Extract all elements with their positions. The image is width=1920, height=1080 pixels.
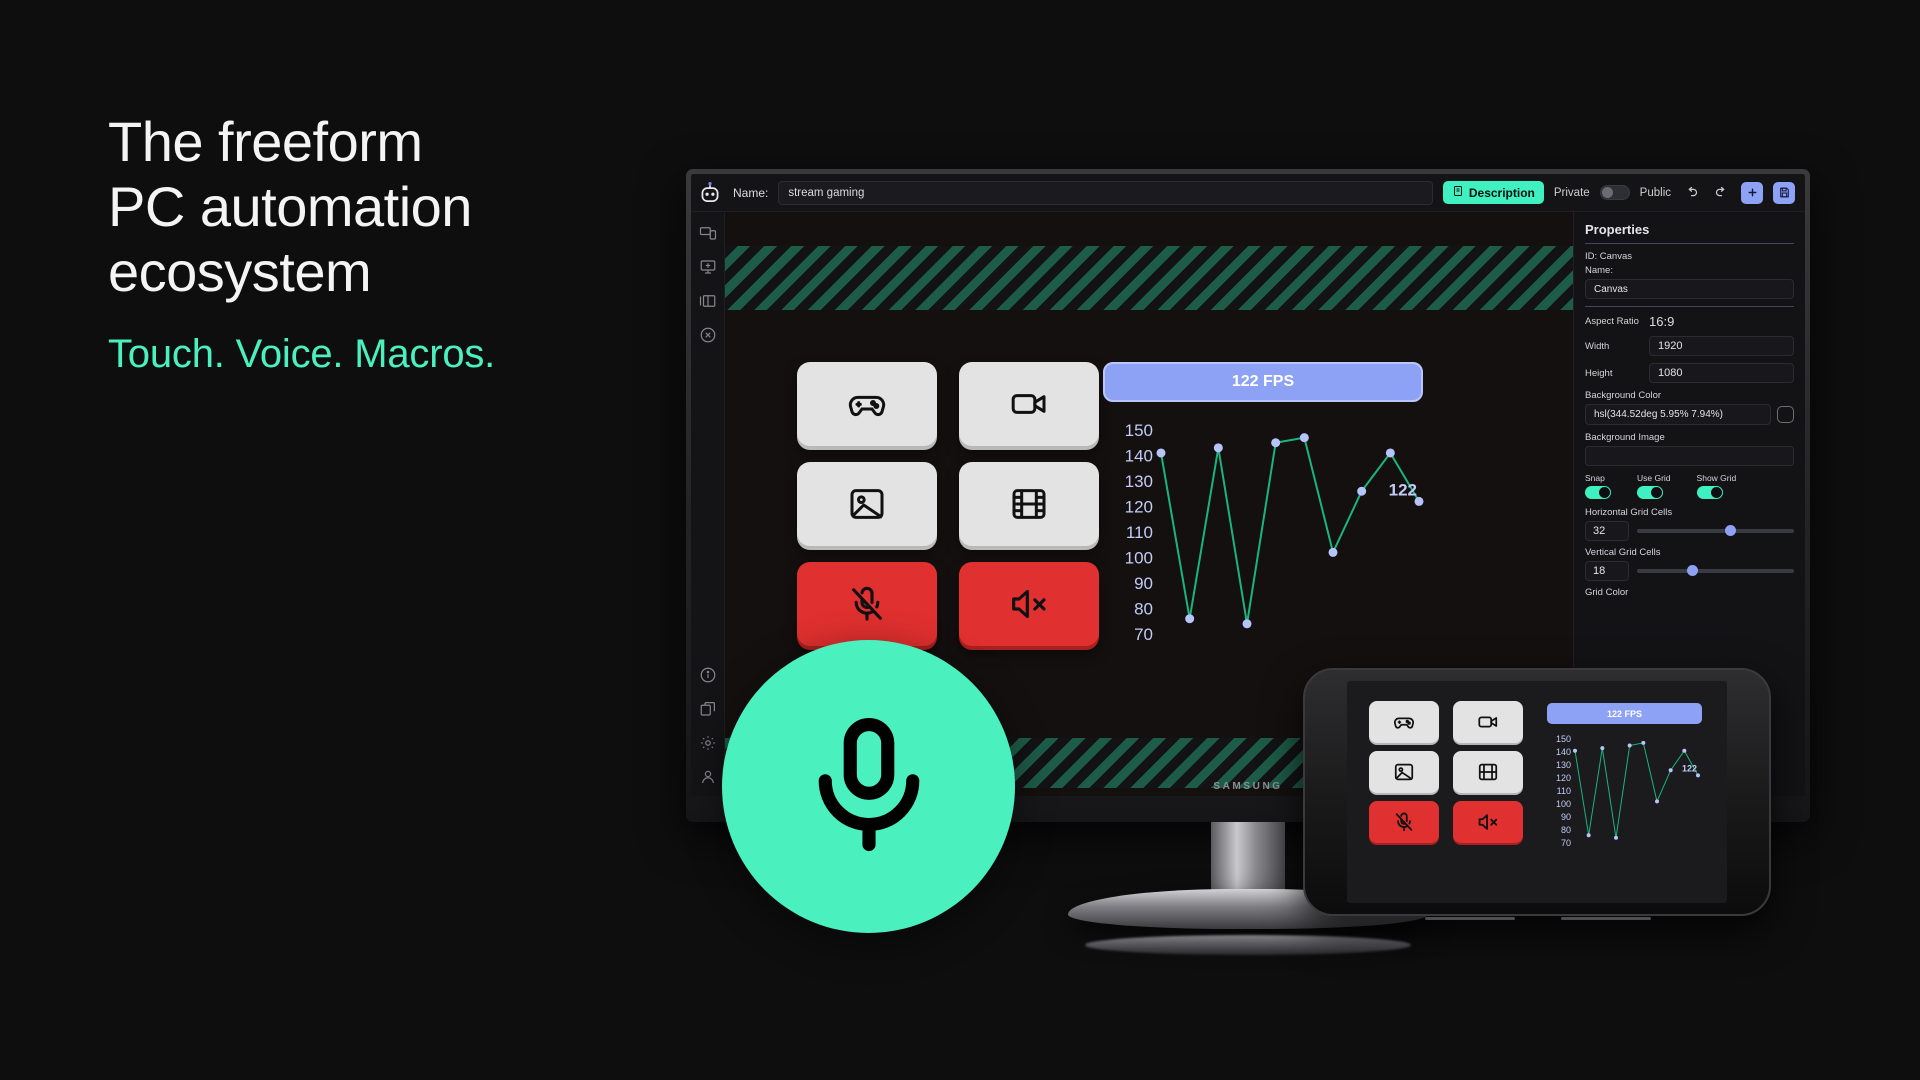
vertical-grid-input[interactable]: 18 (1585, 561, 1629, 581)
chart-point (1682, 749, 1686, 753)
snap-toggle-group: Snap (1585, 473, 1611, 499)
left-rail (691, 212, 725, 796)
y-axis-tick: 90 (1134, 574, 1153, 593)
background-color-swatch[interactable] (1777, 406, 1794, 423)
y-axis-tick: 120 (1125, 498, 1153, 517)
chart-point (1157, 448, 1166, 457)
y-axis-tick: 140 (1125, 447, 1153, 466)
chart-point (1614, 836, 1618, 840)
tv-stand-shadow (1085, 935, 1411, 955)
film-tile[interactable] (959, 462, 1099, 546)
width-row: Width 1920 (1585, 336, 1794, 356)
robot-icon (697, 180, 723, 206)
name-input-value: stream gaming (788, 187, 864, 199)
grid-toggles: Snap Use Grid Show Grid (1585, 473, 1794, 499)
use-grid-toggle[interactable] (1637, 486, 1663, 499)
layers-icon[interactable] (699, 700, 717, 718)
chart-point (1669, 768, 1673, 772)
phone-mic-mute-tile[interactable] (1369, 801, 1439, 843)
chart-point (1214, 443, 1223, 452)
chart-point (1386, 448, 1395, 457)
phone-speaker-bar-right (1561, 917, 1651, 920)
page-subtitle: Touch. Voice. Macros. (108, 332, 495, 377)
info-icon[interactable] (699, 666, 717, 684)
aspect-ratio-value: 16:9 (1649, 314, 1674, 329)
page-title: The freeform PC automation ecosystem (108, 110, 472, 305)
phone-tile-grid (1369, 701, 1523, 843)
add-button[interactable] (1741, 182, 1763, 204)
canvas-name-input[interactable]: Canvas (1585, 279, 1794, 299)
gamepad-tile[interactable] (797, 362, 937, 446)
y-axis-tick: 70 (1561, 838, 1571, 848)
stripe-band-top (725, 246, 1573, 310)
chart-line (1575, 743, 1698, 838)
canvas-name-label: Name: (1585, 265, 1794, 276)
background-color-input[interactable]: hsl(344.52deg 5.95% 7.94%) (1585, 404, 1771, 425)
close-circle-icon[interactable] (699, 326, 717, 344)
background-image-input[interactable] (1585, 446, 1794, 466)
divider-2 (1585, 306, 1794, 307)
visibility-toggle[interactable] (1600, 185, 1630, 200)
phone-body: 122 FPS 150140130120110100908070122 (1303, 668, 1771, 916)
chart-point (1271, 438, 1280, 447)
horizontal-grid-row: 32 (1585, 521, 1794, 541)
chart-annotation: 122 (1682, 763, 1697, 773)
y-axis-tick: 110 (1126, 523, 1153, 542)
y-axis-tick: 120 (1556, 773, 1571, 783)
y-axis-tick: 100 (1125, 549, 1153, 568)
tile-grid (797, 362, 1099, 646)
description-button[interactable]: Description (1443, 181, 1544, 204)
chart-point (1641, 741, 1645, 745)
phone-speaker-bar-left (1425, 917, 1515, 920)
y-axis-tick: 80 (1561, 825, 1571, 835)
name-input[interactable]: stream gaming (778, 181, 1433, 205)
vertical-grid-label: Vertical Grid Cells (1585, 547, 1794, 558)
monitor-add-icon[interactable] (699, 258, 717, 276)
y-axis-tick: 130 (1556, 760, 1571, 770)
page-root: The freeform PC automation ecosystem Tou… (0, 0, 1920, 1080)
phone-mockup: 122 FPS 150140130120110100908070122 (1303, 668, 1771, 916)
description-label: Description (1469, 186, 1535, 200)
redo-icon[interactable] (1711, 183, 1731, 203)
chart-point (1696, 773, 1700, 777)
chart-point (1600, 746, 1604, 750)
grid-color-label: Grid Color (1585, 587, 1794, 598)
phone-screen: 122 FPS 150140130120110100908070122 (1347, 681, 1727, 903)
y-axis-tick: 150 (1556, 734, 1571, 744)
phone-gamepad-tile[interactable] (1369, 701, 1439, 743)
y-axis-tick: 90 (1561, 812, 1571, 822)
save-button[interactable] (1773, 182, 1795, 204)
y-axis-tick: 110 (1557, 786, 1571, 796)
chart-annotation: 122 (1389, 480, 1417, 499)
chart-point (1300, 433, 1309, 442)
y-axis-tick: 130 (1125, 472, 1153, 491)
panel-icon[interactable] (699, 292, 717, 310)
height-input[interactable]: 1080 (1649, 363, 1794, 383)
devices-icon[interactable] (699, 224, 717, 242)
height-label: Height (1585, 368, 1641, 379)
undo-icon[interactable] (1681, 183, 1701, 203)
background-color-label: Background Color (1585, 390, 1794, 401)
y-axis-tick: 100 (1556, 799, 1571, 809)
y-axis-tick: 70 (1134, 625, 1153, 644)
chart-line (1161, 438, 1419, 624)
phone-fps-chart: 150140130120110100908070122 (1543, 733, 1708, 853)
horizontal-grid-slider[interactable] (1637, 529, 1794, 533)
phone-fps-badge[interactable]: 122 FPS (1547, 703, 1702, 724)
vertical-grid-row: 18 (1585, 561, 1794, 581)
background-color-row: hsl(344.52deg 5.95% 7.94%) (1585, 404, 1794, 425)
chart-point (1587, 833, 1591, 837)
document-icon (1452, 185, 1464, 200)
volume-mute-tile[interactable] (959, 562, 1099, 646)
use-grid-label: Use Grid (1637, 473, 1671, 483)
microphone-icon (794, 712, 944, 862)
y-axis-tick: 80 (1134, 600, 1153, 619)
fps-badge[interactable]: 122 FPS (1103, 362, 1423, 402)
width-input[interactable]: 1920 (1649, 336, 1794, 356)
name-label: Name: (733, 186, 768, 200)
canvas-name-value: Canvas (1594, 284, 1628, 295)
show-grid-toggle[interactable] (1697, 486, 1723, 499)
snap-label: Snap (1585, 473, 1611, 483)
mic-mute-tile[interactable] (797, 562, 937, 646)
camera-tile[interactable] (959, 362, 1099, 446)
width-label: Width (1585, 341, 1641, 352)
phone-camera-tile[interactable] (1453, 701, 1523, 743)
voice-mic-overlay-button[interactable] (722, 640, 1015, 933)
aspect-ratio-label: Aspect Ratio (1585, 316, 1641, 327)
chart-point (1357, 487, 1366, 496)
canvas-id-label: ID: Canvas (1585, 251, 1794, 262)
chart-point (1628, 744, 1632, 748)
y-axis-tick: 140 (1556, 747, 1571, 757)
vertical-grid-slider[interactable] (1637, 569, 1794, 573)
chart-point (1329, 548, 1338, 557)
image-tile[interactable] (797, 462, 937, 546)
horizontal-grid-label: Horizontal Grid Cells (1585, 507, 1794, 518)
properties-title: Properties (1585, 222, 1794, 237)
app-toolbar: Name: stream gaming Description (691, 174, 1805, 212)
fps-chart: 150140130120110100908070122 (1103, 420, 1433, 648)
height-row: Height 1080 (1585, 363, 1794, 383)
gear-icon[interactable] (699, 734, 717, 752)
chart-point (1243, 619, 1252, 628)
show-grid-label: Show Grid (1697, 473, 1737, 483)
use-grid-toggle-group: Use Grid (1637, 473, 1671, 499)
aspect-ratio-row: Aspect Ratio 16:9 (1585, 314, 1794, 329)
chart-point (1655, 799, 1659, 803)
phone-volume-mute-tile[interactable] (1453, 801, 1523, 843)
y-axis-tick: 150 (1125, 421, 1153, 440)
public-label: Public (1640, 187, 1671, 199)
divider (1585, 243, 1794, 244)
phone-film-tile[interactable] (1453, 751, 1523, 793)
background-image-label: Background Image (1585, 432, 1794, 443)
phone-image-tile[interactable] (1369, 751, 1439, 793)
private-label: Private (1554, 187, 1590, 199)
show-grid-toggle-group: Show Grid (1697, 473, 1737, 499)
snap-toggle[interactable] (1585, 486, 1611, 499)
horizontal-grid-input[interactable]: 32 (1585, 521, 1629, 541)
chart-point (1185, 614, 1194, 623)
chart-point (1573, 749, 1577, 753)
